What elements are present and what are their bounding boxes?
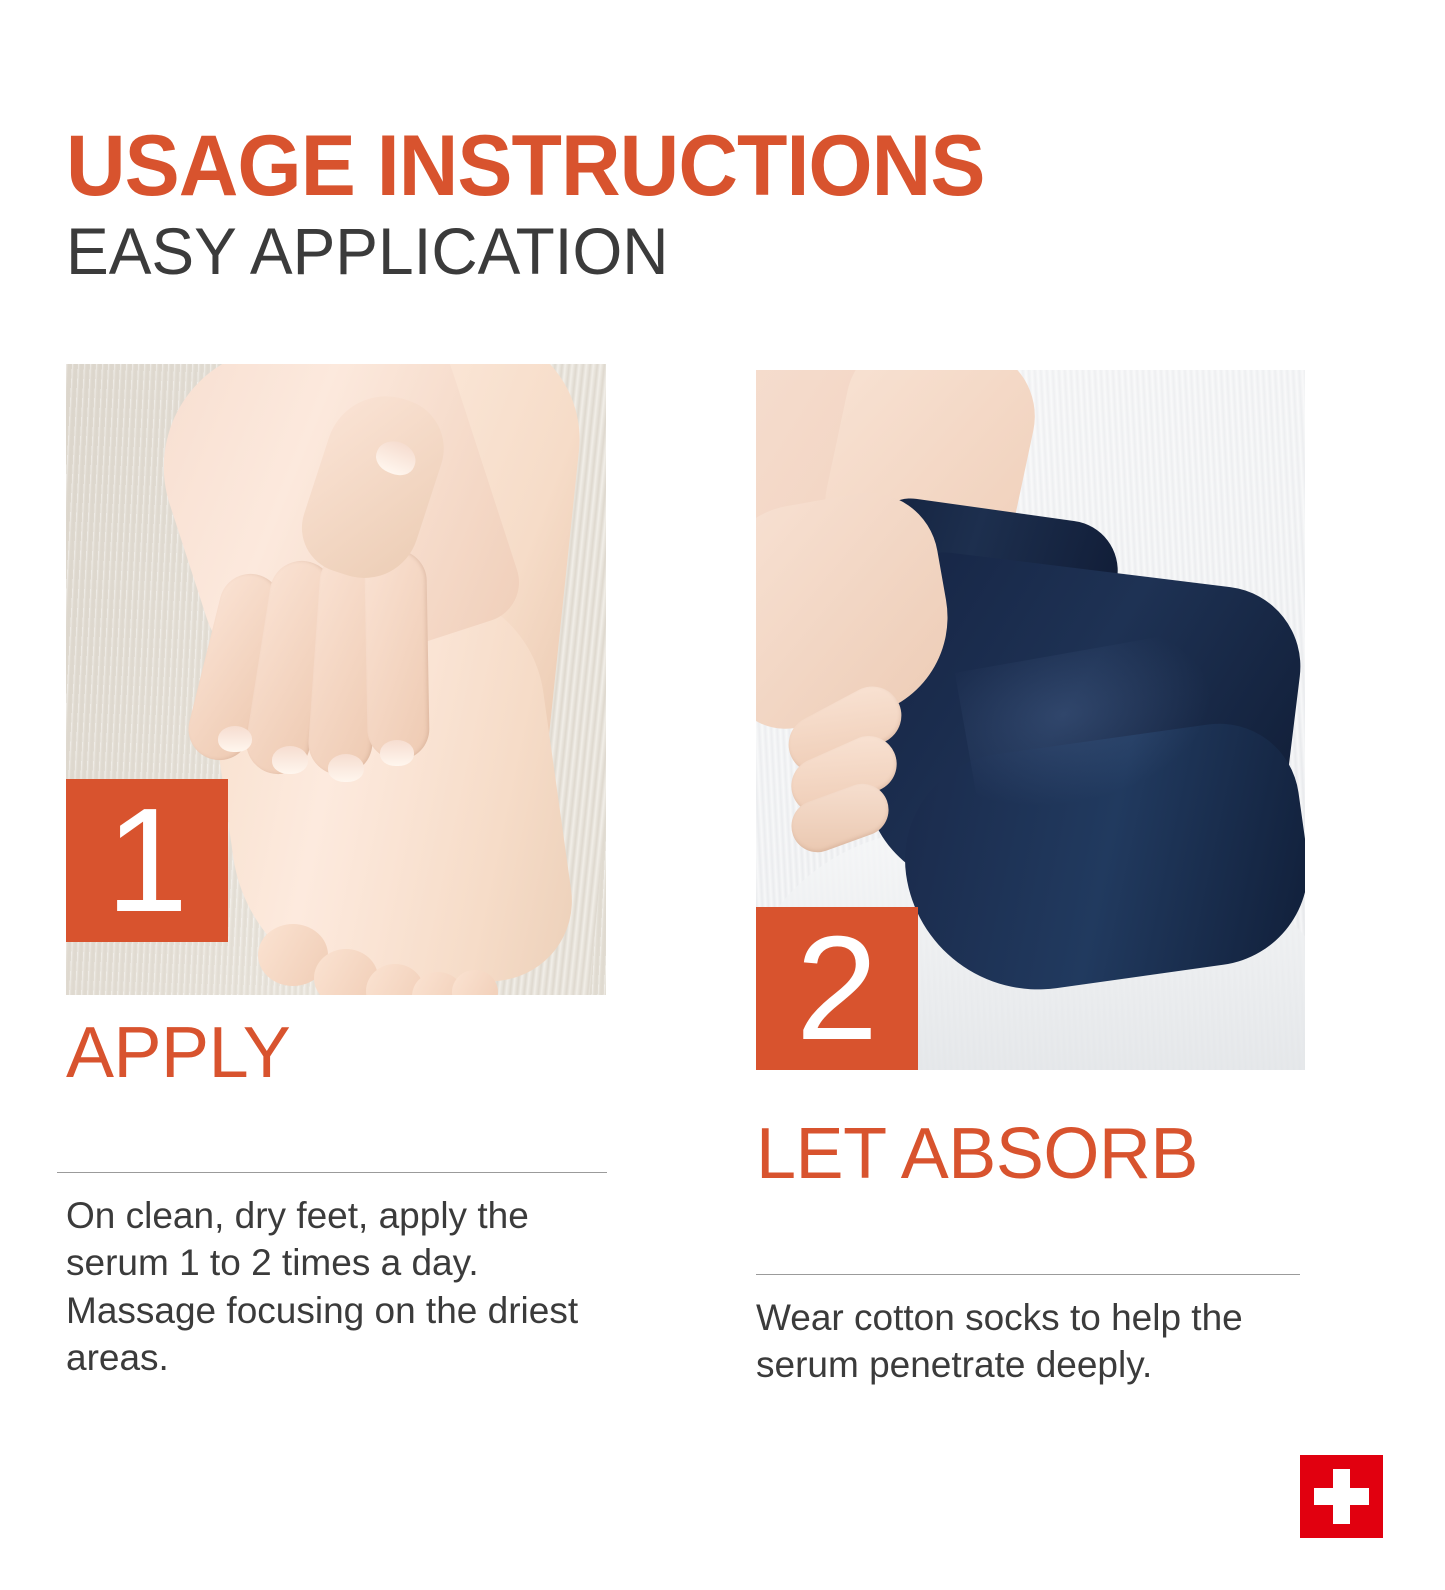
swiss-flag-icon [1300, 1455, 1383, 1538]
finger-4 [364, 549, 430, 760]
step-2-number-badge: 2 [756, 907, 918, 1070]
header: USAGE INSTRUCTIONS EASY APPLICATION [66, 126, 1366, 284]
fingernail-4 [380, 740, 414, 766]
step-2-photo: 2 [756, 370, 1305, 1070]
step-1-heading: APPLY [66, 1017, 290, 1089]
swiss-cross-horizontal [1314, 1488, 1369, 1505]
step-1-number-badge: 1 [66, 779, 228, 942]
step-2-divider [756, 1274, 1300, 1275]
step-1-body-text: On clean, dry feet, apply the serum 1 to… [66, 1192, 606, 1381]
fingernail-3 [328, 754, 364, 782]
fingernail-1 [218, 726, 252, 752]
step-2-heading: LET ABSORB [756, 1118, 1198, 1190]
step-1-divider [57, 1172, 607, 1173]
usage-instructions-infographic: { "header": { "title": "USAGE INSTRUCTIO… [0, 0, 1445, 1590]
step-1-photo: 1 [66, 364, 606, 995]
step-2-body-text: Wear cotton socks to help the serum pene… [756, 1294, 1311, 1389]
fingernail-2 [272, 746, 308, 774]
page-title: USAGE INSTRUCTIONS [66, 126, 1314, 208]
page-subtitle: EASY APPLICATION [66, 218, 1327, 284]
